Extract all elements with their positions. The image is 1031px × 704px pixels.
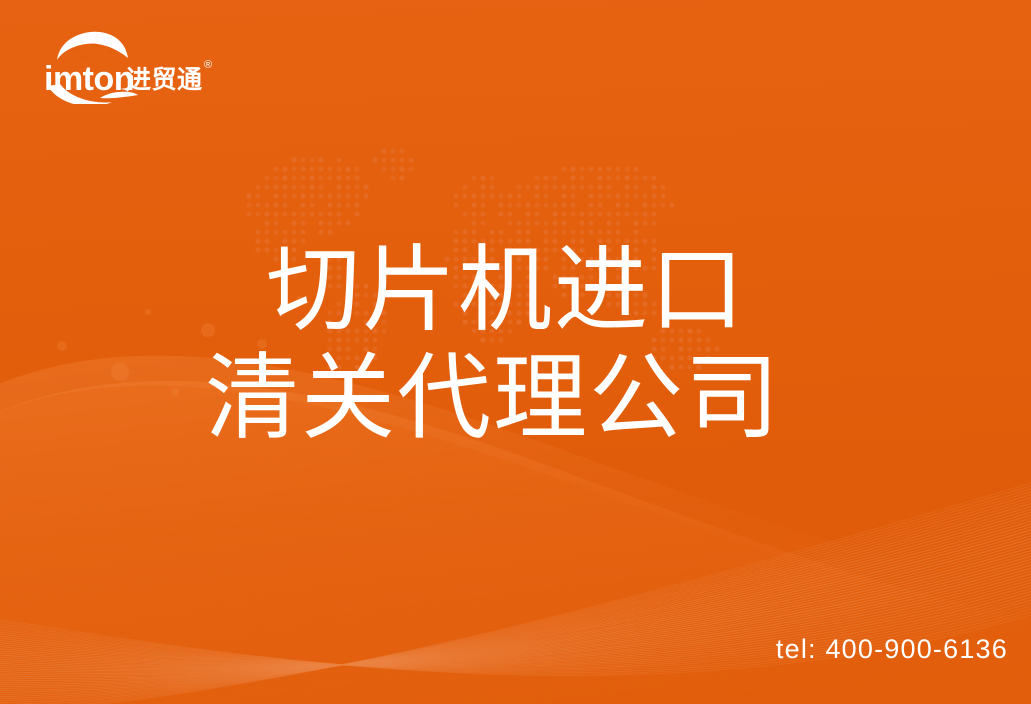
company-logo[interactable]: imton 进贸通 ® (38, 28, 238, 104)
headline-line-1: 切片机进口 (0, 236, 1031, 344)
headline-block: 切片机进口 清关代理公司 (0, 236, 1031, 452)
registered-trademark-icon: ® (204, 59, 212, 71)
promo-banner: imton 进贸通 ® 切片机进口 清关代理公司 tel: 400-900-61… (0, 0, 1031, 704)
headline-line-2: 清关代理公司 (0, 344, 1031, 452)
contact-phone[interactable]: tel: 400-900-6136 (776, 634, 1008, 665)
logo-chinese-name: 进贸通 (126, 65, 203, 94)
